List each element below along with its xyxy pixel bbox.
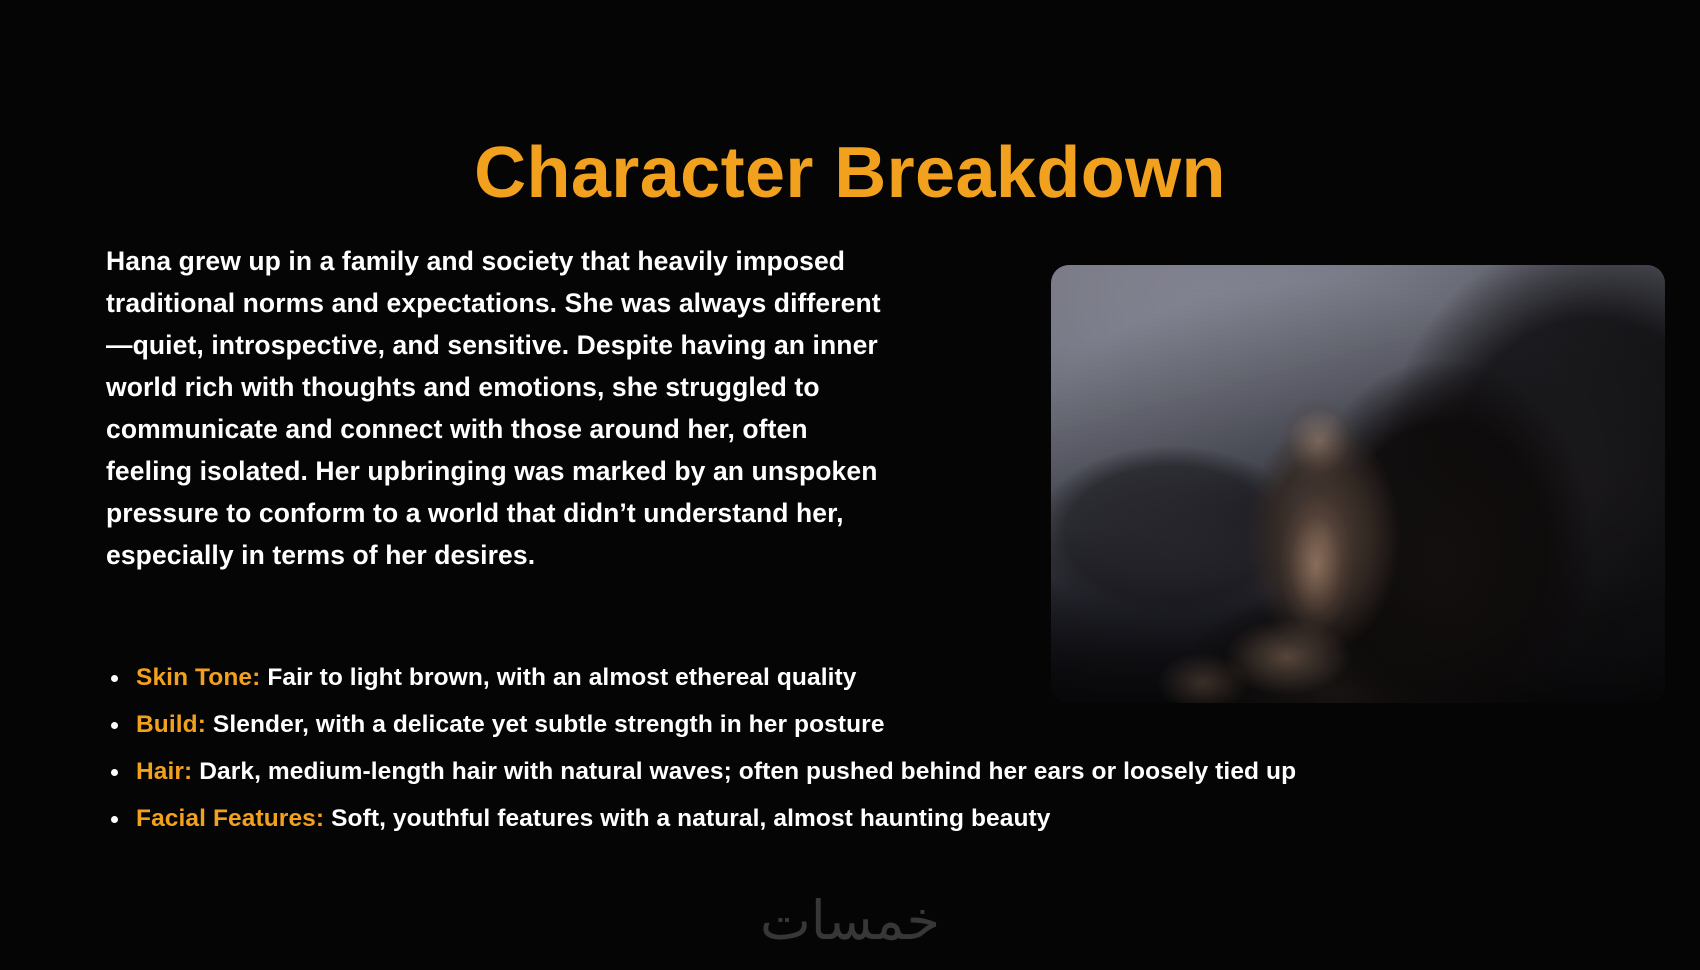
list-item: Build: Slender, with a delicate yet subt…: [106, 705, 1526, 745]
character-portrait: [1051, 265, 1665, 703]
portrait-image: [1051, 265, 1665, 703]
trait-label: Skin Tone:: [136, 664, 260, 691]
trait-label: Build:: [136, 711, 206, 738]
bullet-dot-icon: [111, 675, 118, 682]
watermark: خمسات: [0, 889, 1700, 952]
slide-root: Character Breakdown Hana grew up in a fa…: [0, 0, 1700, 970]
trait-text: Slender, with a delicate yet subtle stre…: [206, 711, 885, 738]
page-title: Character Breakdown: [0, 136, 1700, 212]
bullet-dot-icon: [111, 816, 118, 823]
bullet-dot-icon: [111, 722, 118, 729]
bullet-dot-icon: [111, 769, 118, 776]
trait-label: Hair:: [136, 758, 192, 785]
list-item: Hair: Dark, medium-length hair with natu…: [106, 752, 1526, 792]
trait-text: Dark, medium-length hair with natural wa…: [192, 758, 1296, 785]
body-paragraph: Hana grew up in a family and society tha…: [106, 240, 896, 576]
trait-text: Soft, youthful features with a natural, …: [324, 805, 1050, 832]
list-item: Facial Features: Soft, youthful features…: [106, 799, 1526, 839]
trait-text: Fair to light brown, with an almost ethe…: [260, 664, 856, 691]
trait-label: Facial Features:: [136, 805, 324, 832]
